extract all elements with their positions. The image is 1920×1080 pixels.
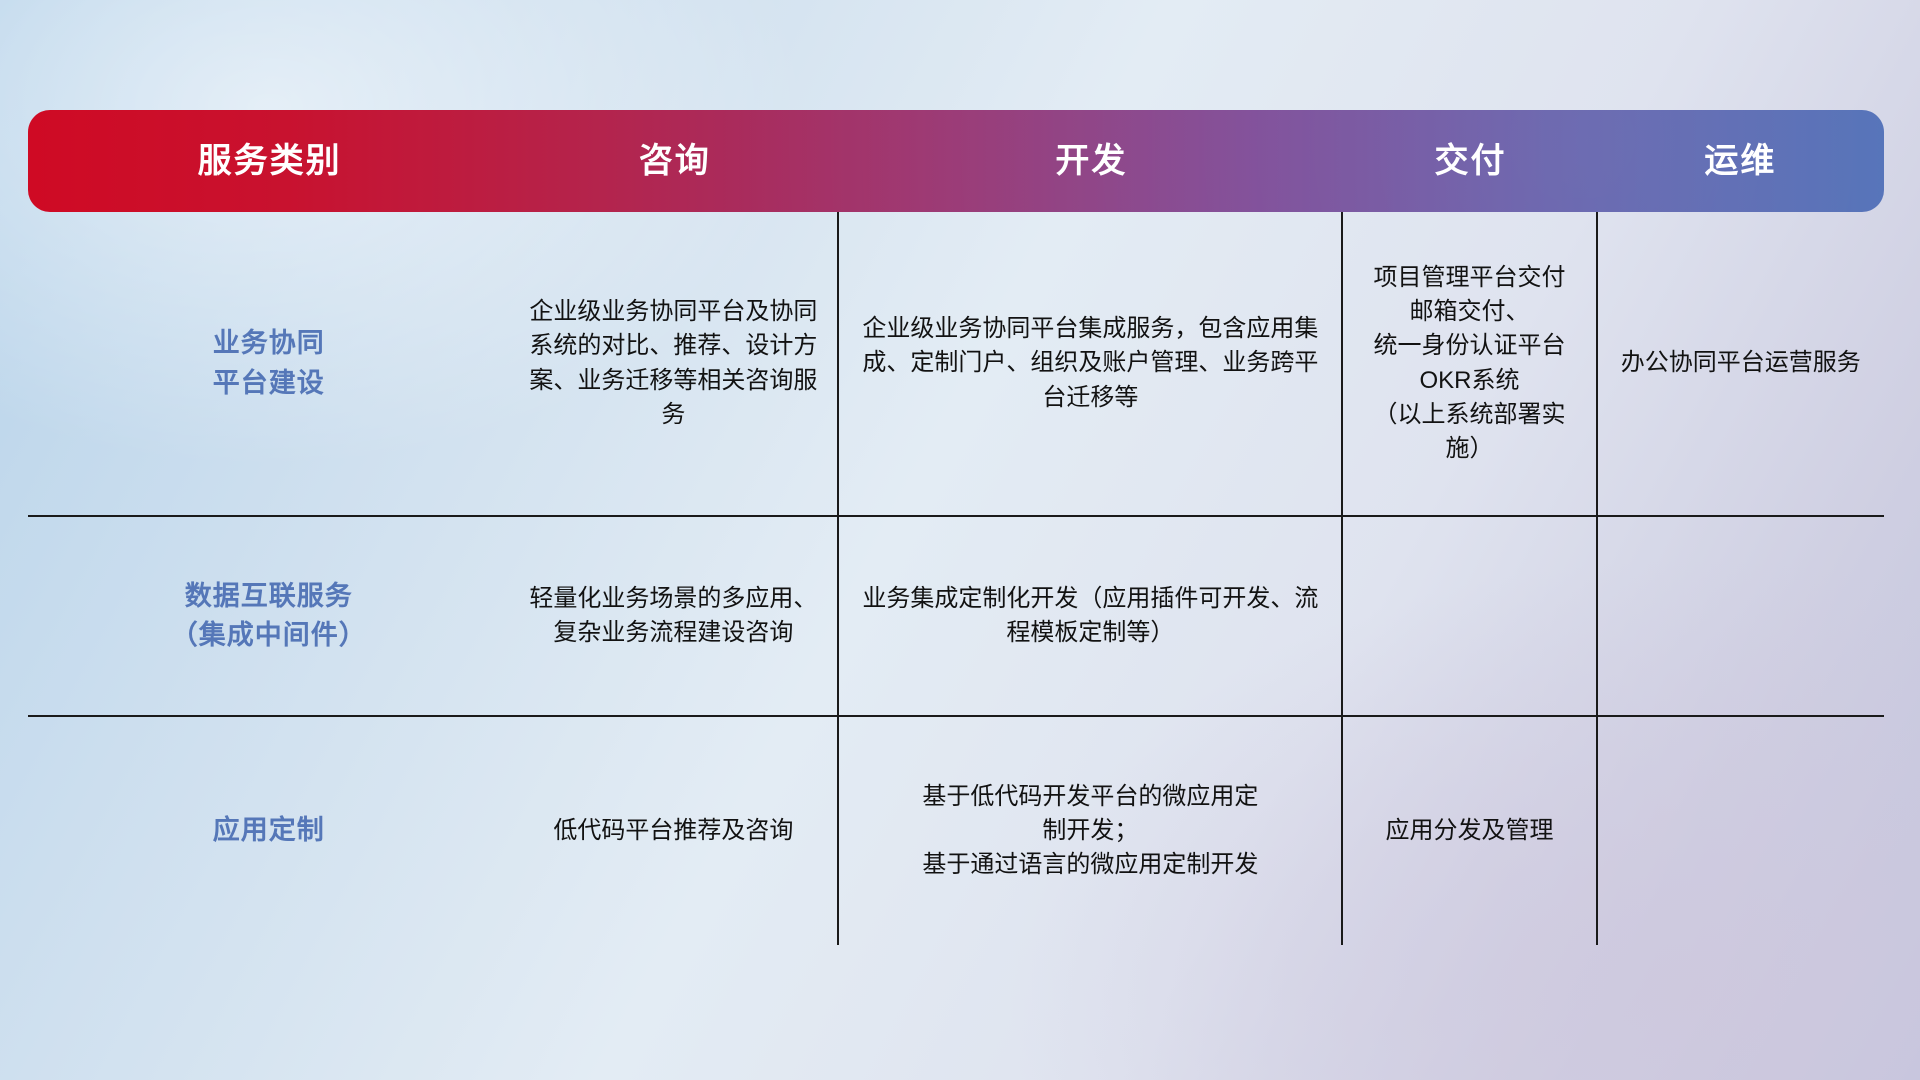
cell-consulting: 轻量化业务场景的多应用、复杂业务流程建设咨询 (510, 517, 838, 715)
column-header-operations: 运维 (1597, 144, 1884, 178)
cell-delivery-text: 应用分发及管理 (1386, 814, 1554, 848)
cell-operations (1596, 517, 1884, 715)
table-row: 数据互联服务 （集成中间件） 轻量化业务场景的多应用、复杂业务流程建设咨询 业务… (28, 517, 1884, 717)
cell-consulting-text: 低代码平台推荐及咨询 (553, 814, 793, 848)
cell-development-text: 基于低代码开发平台的微应用定 制开发； 基于通过语言的微应用定制开发 (922, 780, 1258, 882)
column-header-development: 开发 (838, 144, 1344, 178)
cell-consulting: 企业级业务协同平台及协同系统的对比、推荐、设计方案、业务迁移等相关咨询服务 (510, 212, 838, 515)
category-line-2: 平台建设 (213, 364, 325, 403)
delivery-line-4: OKR系统 (1359, 364, 1579, 398)
cell-delivery-text: 项目管理平台交付 邮箱交付、 统一身份认证平台 OKR系统 （以上系统部署实施） (1359, 261, 1579, 465)
category-line-1: 业务协同 (213, 324, 325, 363)
column-header-delivery: 交付 (1344, 144, 1596, 178)
table-row: 应用定制 低代码平台推荐及咨询 基于低代码开发平台的微应用定 制开发； 基于通过… (28, 717, 1884, 945)
table-body: 业务协同 平台建设 企业级业务协同平台及协同系统的对比、推荐、设计方案、业务迁移… (28, 212, 1884, 945)
delivery-line-3: 统一身份认证平台 (1359, 329, 1579, 363)
cell-operations-text: 办公协同平台运营服务 (1621, 346, 1861, 380)
cell-operations: 办公协同平台运营服务 (1596, 212, 1884, 515)
delivery-line-1: 项目管理平台交付 (1359, 261, 1579, 295)
cell-development: 业务集成定制化开发（应用插件可开发、流程模板定制等） (837, 517, 1341, 715)
cell-delivery: 应用分发及管理 (1341, 717, 1595, 945)
cell-consulting-text: 轻量化业务场景的多应用、复杂业务流程建设咨询 (526, 582, 822, 650)
delivery-line-2: 邮箱交付、 (1359, 295, 1579, 329)
development-line-1: 基于低代码开发平台的微应用定 (922, 780, 1258, 814)
cell-category: 应用定制 (28, 717, 510, 945)
cell-consulting-text: 企业级业务协同平台及协同系统的对比、推荐、设计方案、业务迁移等相关咨询服务 (526, 295, 822, 431)
cell-delivery (1341, 517, 1595, 715)
cell-development-text: 业务集成定制化开发（应用插件可开发、流程模板定制等） (855, 582, 1325, 650)
cell-operations (1596, 717, 1884, 945)
development-line-2: 制开发； (922, 814, 1258, 848)
table-row: 业务协同 平台建设 企业级业务协同平台及协同系统的对比、推荐、设计方案、业务迁移… (28, 212, 1884, 517)
cell-consulting: 低代码平台推荐及咨询 (510, 717, 838, 945)
column-header-consulting: 咨询 (511, 144, 838, 178)
cell-category: 数据互联服务 （集成中间件） (28, 517, 510, 715)
column-header-service-category: 服务类别 (28, 144, 511, 178)
development-line-3: 基于通过语言的微应用定制开发 (922, 848, 1258, 882)
cell-development-text: 企业级业务协同平台集成服务，包含应用集成、定制门户、组织及账户管理、业务跨平台迁… (855, 312, 1325, 414)
table-header-row: 服务类别 咨询 开发 交付 运维 (28, 110, 1884, 212)
cell-development: 基于低代码开发平台的微应用定 制开发； 基于通过语言的微应用定制开发 (837, 717, 1341, 945)
category-line-1: 应用定制 (213, 811, 325, 850)
cell-category: 业务协同 平台建设 (28, 212, 510, 515)
cell-delivery: 项目管理平台交付 邮箱交付、 统一身份认证平台 OKR系统 （以上系统部署实施） (1341, 212, 1595, 515)
category-line-1: 数据互联服务 (171, 577, 367, 616)
cell-development: 企业级业务协同平台集成服务，包含应用集成、定制门户、组织及账户管理、业务跨平台迁… (837, 212, 1341, 515)
delivery-line-5: （以上系统部署实施） (1359, 398, 1579, 466)
service-matrix-table: 服务类别 咨询 开发 交付 运维 业务协同 平台建设 企业级业务协同平台及协同系… (28, 110, 1884, 945)
category-line-2: （集成中间件） (171, 616, 367, 655)
